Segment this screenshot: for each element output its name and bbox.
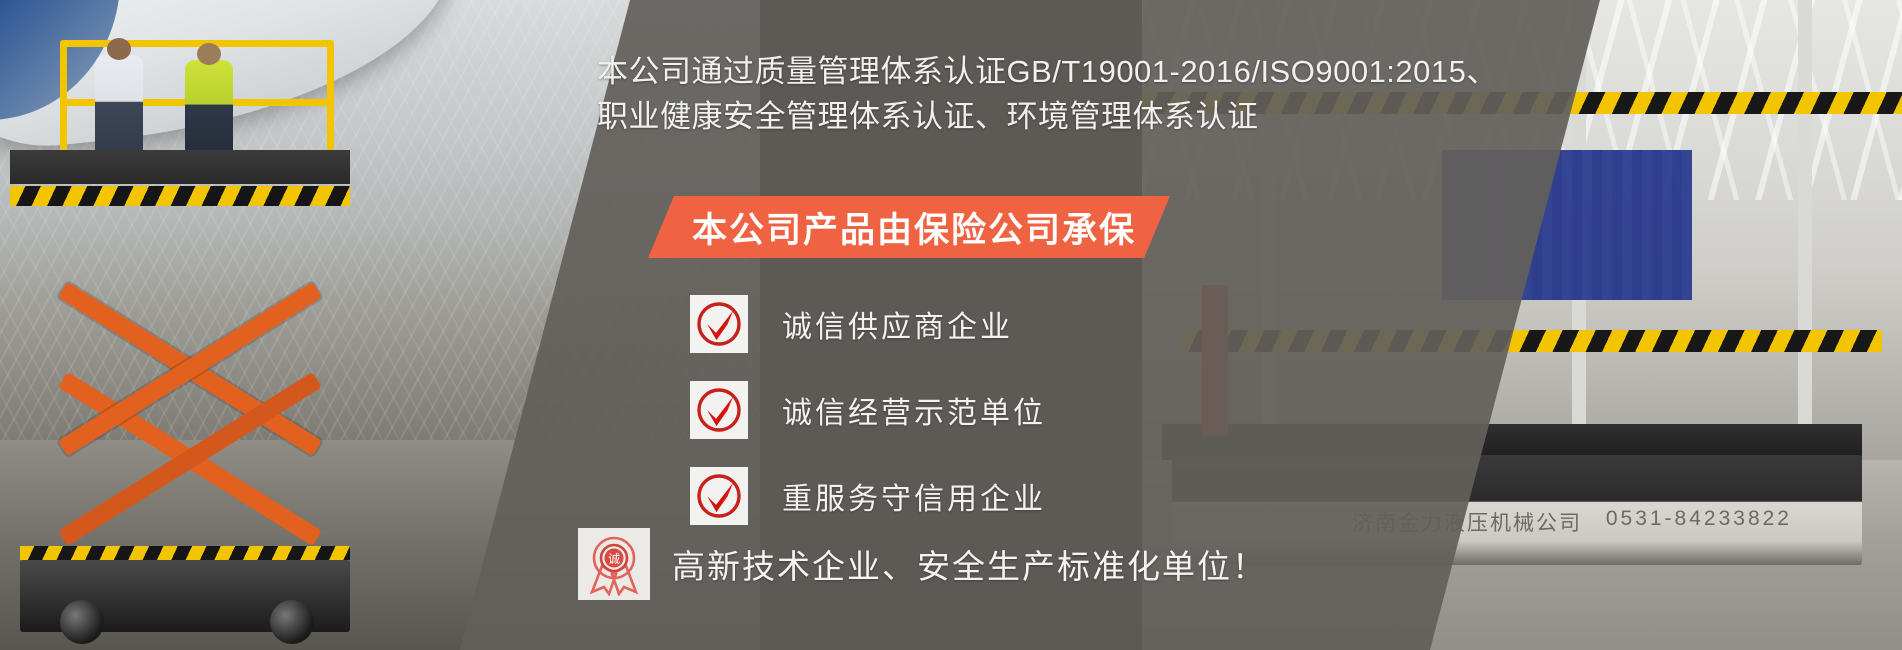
headline-line-1: 本公司通过质量管理体系认证GB/T19001-2016/ISO9001:2015… (597, 54, 1498, 89)
credentials-list: 诚信供应商企业 诚信经营示范单位 (690, 294, 1046, 552)
award-ribbon-icon: 诚 (578, 528, 650, 600)
list-item: 诚信供应商企业 (690, 294, 1046, 354)
highlight-label: 高新技术企业、安全生产标准化单位！ (672, 540, 1267, 588)
list-item: 诚信经营示范单位 (690, 380, 1046, 440)
check-circle-icon (690, 295, 748, 353)
headline-line-2: 职业健康安全管理体系认证、环境管理体系认证 (597, 95, 1457, 140)
highlight-row: 诚 高新技术企业、安全生产标准化单位！ (578, 528, 1267, 600)
banner-stage: 济南金力液压机械公司 0531-84233822 本公司通过质量管理体系认证GB… (0, 0, 1902, 650)
list-item: 重服务守信用企业 (690, 466, 1046, 526)
insurance-ribbon-label: 本公司产品由保险公司承保 (692, 202, 1136, 253)
check-circle-icon (690, 467, 748, 525)
list-item-label: 诚信供应商企业 (782, 302, 1013, 346)
headline-block: 本公司通过质量管理体系认证GB/T19001-2016/ISO9001:2015… (597, 50, 1457, 140)
list-item-label: 重服务守信用企业 (782, 474, 1046, 518)
banner-content: 本公司通过质量管理体系认证GB/T19001-2016/ISO9001:2015… (0, 0, 1902, 650)
award-ribbon-glyph: 诚 (608, 552, 620, 566)
insurance-ribbon: 本公司产品由保险公司承保 (648, 196, 1170, 258)
list-item-label: 诚信经营示范单位 (782, 388, 1046, 432)
check-circle-icon (690, 381, 748, 439)
